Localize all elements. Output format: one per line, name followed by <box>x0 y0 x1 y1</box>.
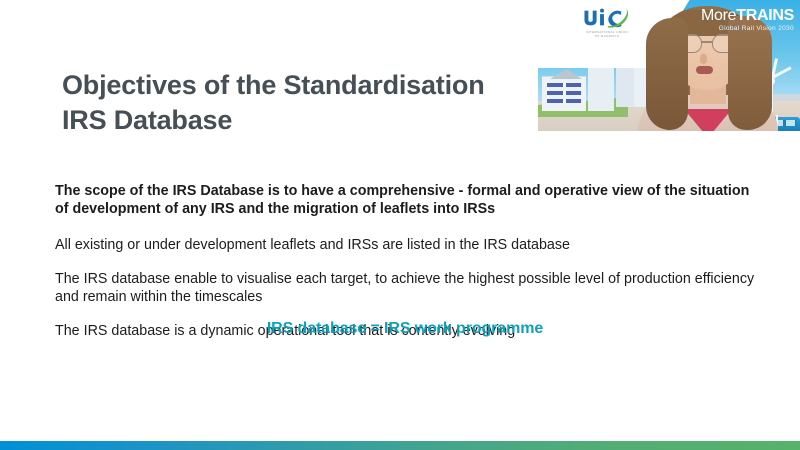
body-paragraph-3: The IRS database enable to visualise eac… <box>55 270 755 307</box>
brand-lockup: MoreTRAINS Global Rail Vision 2030 <box>701 8 794 33</box>
page-title: Objectives of the Standardisation IRS Da… <box>62 68 532 137</box>
uic-logo: INTERNATIONAL UNION OF RAILWAYS <box>570 7 644 43</box>
brand-title-bold: TRAINS <box>736 7 794 24</box>
uic-tagline: INTERNATIONAL UNION OF RAILWAYS <box>570 30 644 39</box>
brand-title-light: More <box>701 7 736 24</box>
slide-body: The scope of the IRS Database is to have… <box>55 182 755 341</box>
video-participant-overlay[interactable]: INTERNATIONAL UNION OF RAILWAYS MoreTRAI… <box>538 0 800 131</box>
body-paragraph-1: The scope of the IRS Database is to have… <box>55 182 755 219</box>
mouth-shape <box>696 66 713 74</box>
brand-title: MoreTRAINS <box>701 8 794 24</box>
hair-left-shape <box>646 18 688 130</box>
presentation-slide: Objectives of the Standardisation IRS Da… <box>0 0 800 450</box>
nose-shape <box>700 54 707 64</box>
highlight-statement: IRS database = IRS work programme <box>55 320 755 338</box>
uic-wordmark-icon <box>581 7 633 29</box>
brand-subtitle: Global Rail Vision 2030 <box>701 26 794 33</box>
body-paragraph-2: All existing or under development leafle… <box>55 236 755 254</box>
hair-right-shape <box>728 16 772 130</box>
bottom-accent-bar <box>0 441 800 450</box>
